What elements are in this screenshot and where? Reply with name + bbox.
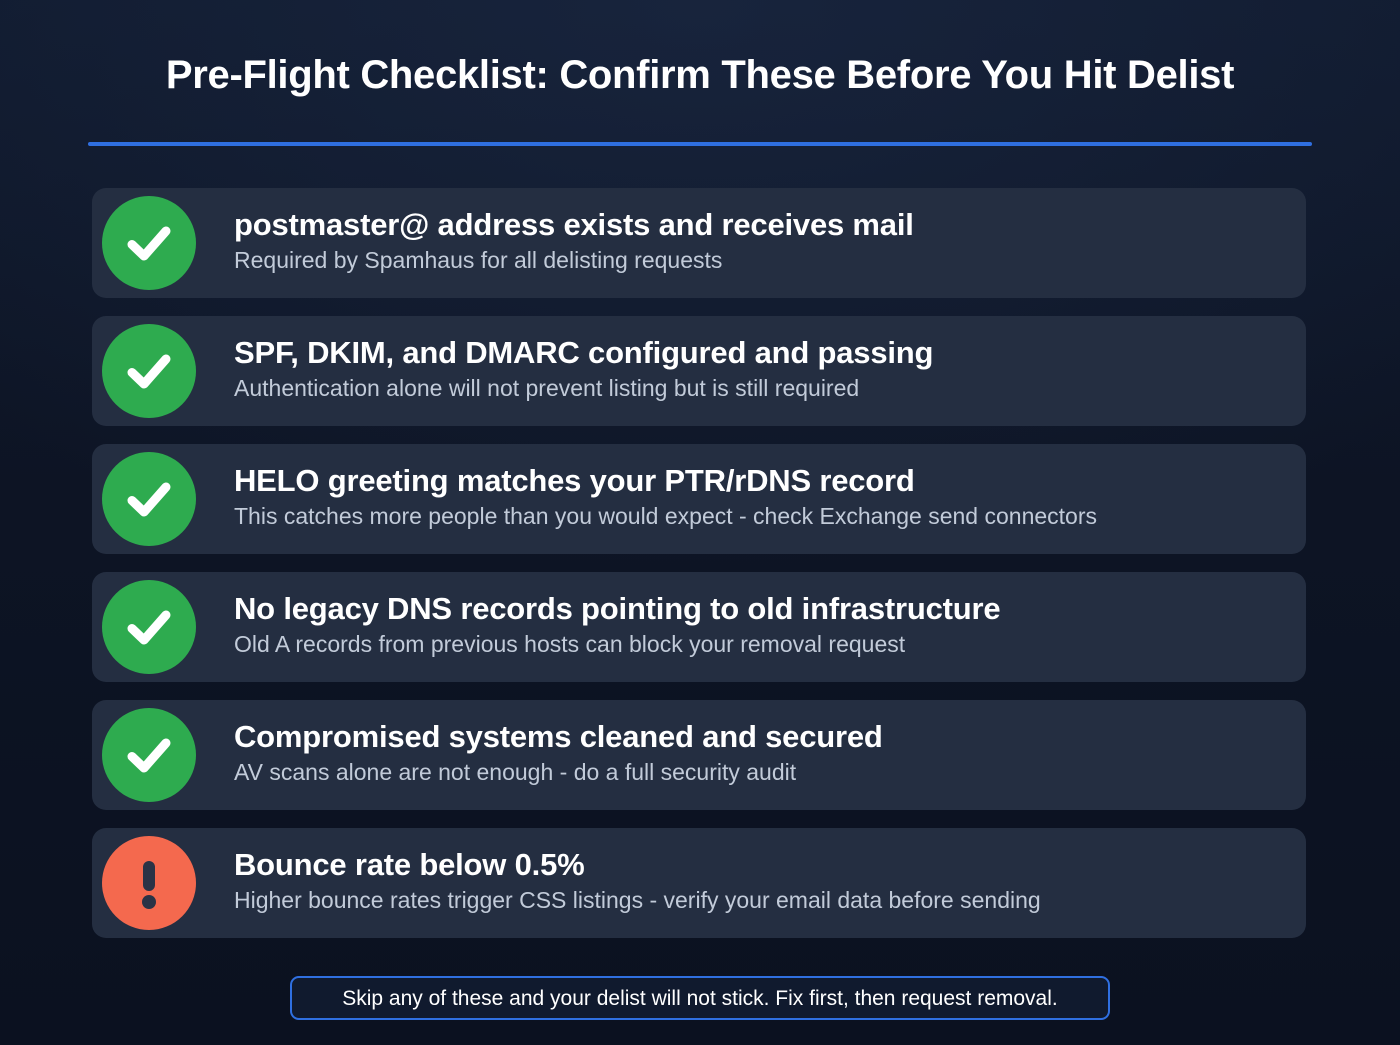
checklist-row: No legacy DNS records pointing to old in… (92, 572, 1306, 682)
checklist-row-title: SPF, DKIM, and DMARC configured and pass… (234, 335, 1282, 371)
check-circle-icon (102, 324, 196, 418)
checklist-row: postmaster@ address exists and receives … (92, 188, 1306, 298)
checklist-row-subtitle: Old A records from previous hosts can bl… (234, 631, 1282, 659)
check-circle-icon (102, 580, 196, 674)
checklist-row-text: SPF, DKIM, and DMARC configured and pass… (234, 335, 1282, 403)
checklist-row-subtitle: Required by Spamhaus for all delisting r… (234, 247, 1282, 275)
checklist-row-subtitle: Higher bounce rates trigger CSS listings… (234, 887, 1282, 915)
checklist-row-text: postmaster@ address exists and receives … (234, 207, 1282, 275)
checklist-row-text: No legacy DNS records pointing to old in… (234, 591, 1282, 659)
title-divider (88, 142, 1312, 146)
checklist-row-title: No legacy DNS records pointing to old in… (234, 591, 1282, 627)
checklist-row: HELO greeting matches your PTR/rDNS reco… (92, 444, 1306, 554)
check-circle-icon (102, 452, 196, 546)
exclamation-circle-icon (102, 836, 196, 930)
check-circle-icon (102, 708, 196, 802)
checklist-row-text: HELO greeting matches your PTR/rDNS reco… (234, 463, 1282, 531)
footer-note-text: Skip any of these and your delist will n… (342, 988, 1057, 1009)
checklist-row-text: Bounce rate below 0.5%Higher bounce rate… (234, 847, 1282, 915)
checklist-infographic: Pre-Flight Checklist: Confirm These Befo… (0, 0, 1400, 1045)
checklist-row: SPF, DKIM, and DMARC configured and pass… (92, 316, 1306, 426)
checklist-row: Bounce rate below 0.5%Higher bounce rate… (92, 828, 1306, 938)
footer-note: Skip any of these and your delist will n… (290, 976, 1110, 1020)
checklist-row-title: postmaster@ address exists and receives … (234, 207, 1282, 243)
checklist-row-title: HELO greeting matches your PTR/rDNS reco… (234, 463, 1282, 499)
checklist-row-text: Compromised systems cleaned and securedA… (234, 719, 1282, 787)
checklist-row-title: Compromised systems cleaned and secured (234, 719, 1282, 755)
checklist-row-subtitle: Authentication alone will not prevent li… (234, 375, 1282, 403)
page-title: Pre-Flight Checklist: Confirm These Befo… (88, 50, 1312, 100)
checklist: postmaster@ address exists and receives … (92, 188, 1306, 938)
checklist-row: Compromised systems cleaned and securedA… (92, 700, 1306, 810)
header: Pre-Flight Checklist: Confirm These Befo… (88, 50, 1312, 146)
checklist-row-subtitle: This catches more people than you would … (234, 503, 1282, 531)
checklist-row-title: Bounce rate below 0.5% (234, 847, 1282, 883)
checklist-row-subtitle: AV scans alone are not enough - do a ful… (234, 759, 1282, 787)
check-circle-icon (102, 196, 196, 290)
